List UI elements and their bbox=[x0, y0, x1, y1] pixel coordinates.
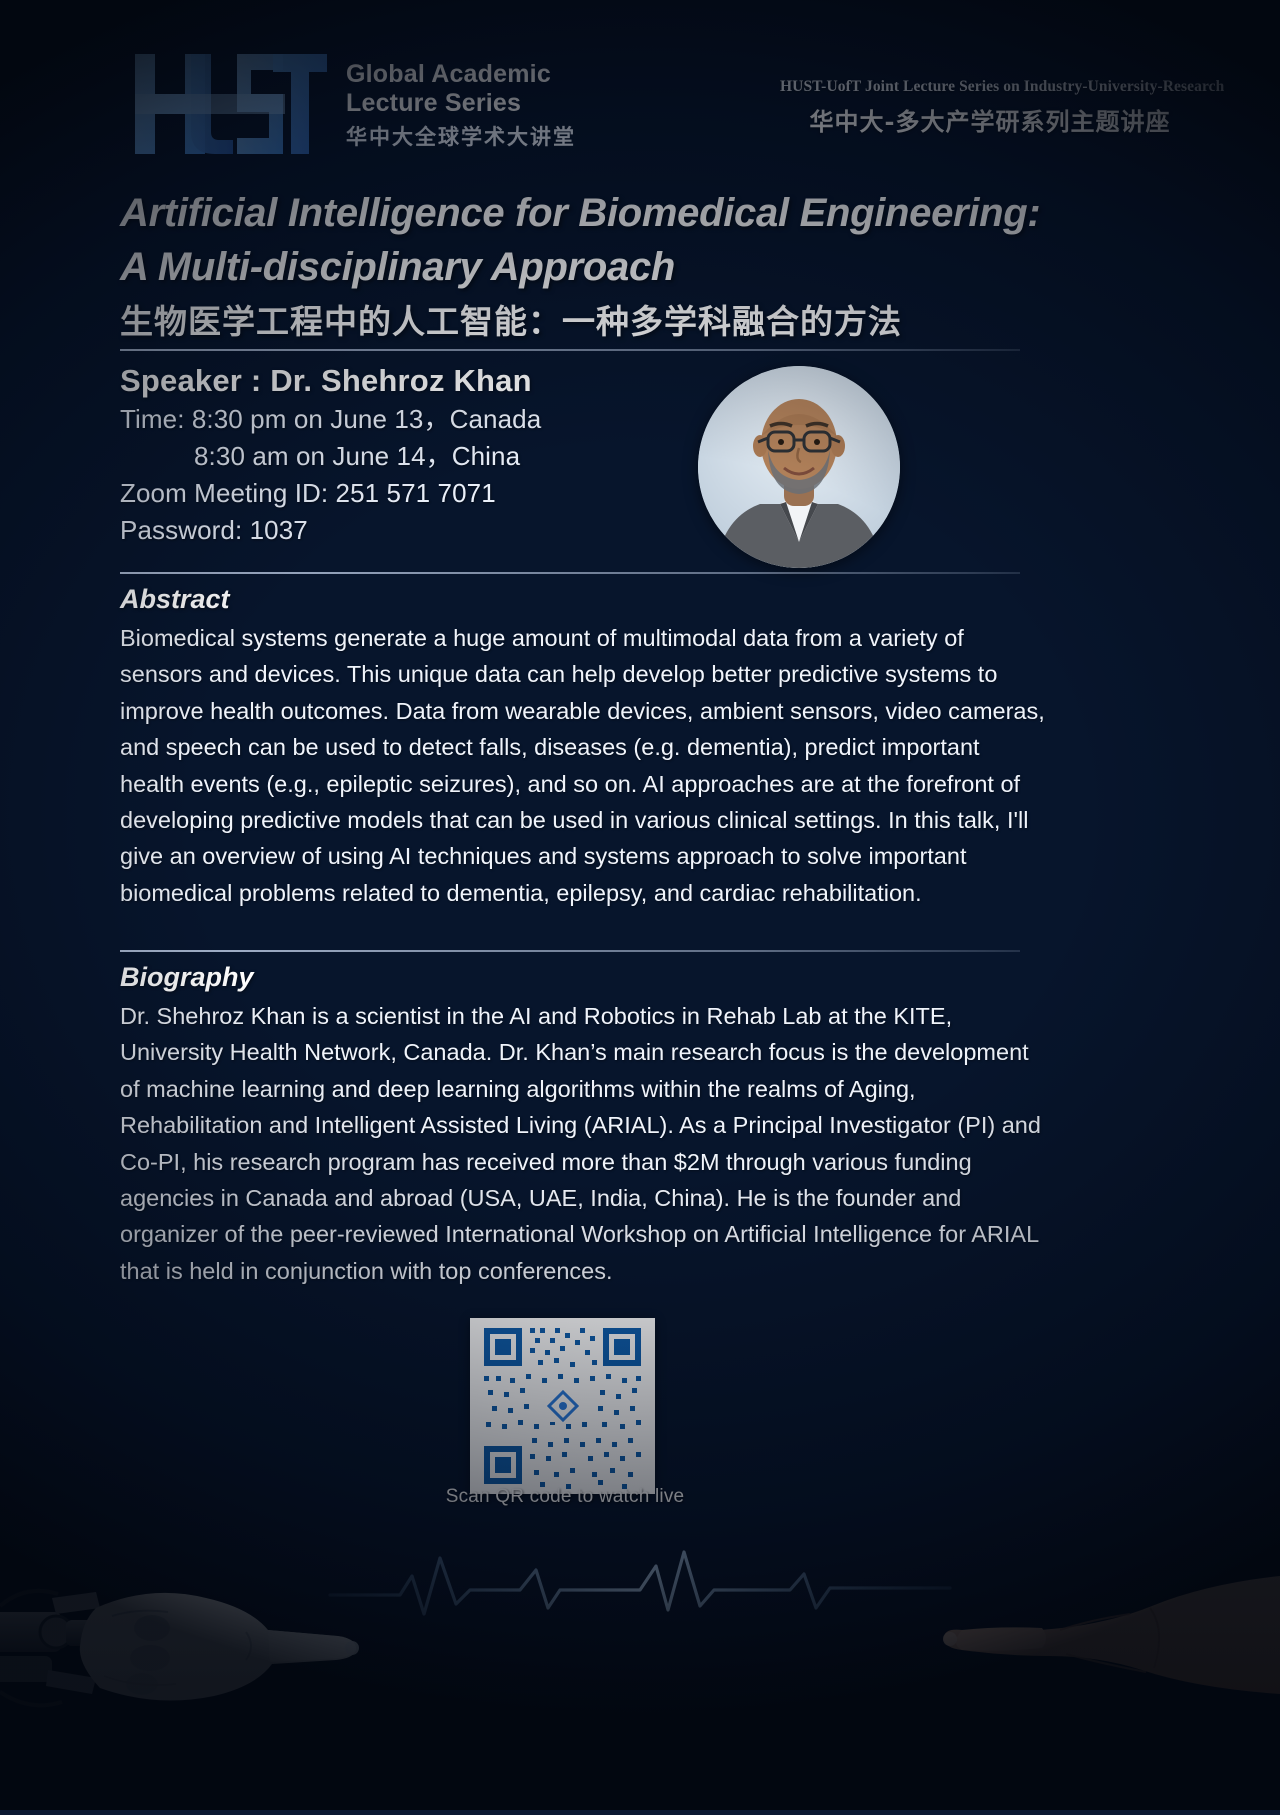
logo-chinese-text: 华中大全球学术大讲堂 bbox=[346, 121, 576, 151]
title-line-2: A Multi-disciplinary Approach bbox=[120, 240, 1060, 294]
series-banner: HUST-UofT Joint Lecture Series on Indust… bbox=[780, 78, 1200, 137]
biography-heading: Biography bbox=[120, 960, 1050, 994]
abstract-body: Biomedical systems generate a huge amoun… bbox=[120, 620, 1050, 911]
qr-code[interactable] bbox=[470, 1318, 655, 1494]
lecture-title-block: Artificial Intelligence for Biomedical E… bbox=[120, 186, 1060, 344]
qr-caption: Scan QR code to watch live bbox=[380, 1486, 750, 1508]
brand-logo-group: Global Academic Lecture Series 华中大全球学术大讲… bbox=[133, 48, 576, 158]
speaker-info-block: Speaker : Dr. Shehroz Khan Time: 8:30 pm… bbox=[120, 361, 740, 549]
zoom-meeting-id: Zoom Meeting ID: 251 571 7071 bbox=[120, 475, 740, 512]
zoom-password: Password: 1037 bbox=[120, 512, 740, 549]
time-line-china: 8:30 am on June 14，China bbox=[120, 438, 740, 475]
biography-body: Dr. Shehroz Khan is a scientist in the A… bbox=[120, 998, 1050, 1289]
poster-header: Global Academic Lecture Series 华中大全球学术大讲… bbox=[0, 0, 1280, 175]
logo-line-2: Lecture Series bbox=[346, 89, 576, 118]
hust-logo-icon bbox=[133, 48, 328, 158]
abstract-heading: Abstract bbox=[120, 582, 1050, 616]
abstract-section: Abstract Biomedical systems generate a h… bbox=[120, 582, 1050, 911]
logo-line-1: Global Academic bbox=[346, 60, 576, 89]
biography-section: Biography Dr. Shehroz Khan is a scientis… bbox=[120, 960, 1050, 1289]
series-title-en: HUST-UofT Joint Lecture Series on Indust… bbox=[780, 78, 1200, 96]
series-title-cn: 华中大-多大产学研系列主题讲座 bbox=[780, 102, 1200, 137]
time-line-canada: Time: 8:30 pm on June 13，Canada bbox=[120, 401, 740, 438]
divider-rule-biography bbox=[120, 950, 1020, 952]
divider-rule-abstract bbox=[120, 572, 1020, 574]
brand-logo-text: Global Academic Lecture Series 华中大全球学术大讲… bbox=[346, 56, 576, 151]
speaker-name: Speaker : Dr. Shehroz Khan bbox=[120, 361, 740, 401]
title-chinese: 生物医学工程中的人工智能：一种多学科融合的方法 bbox=[120, 300, 1060, 344]
speaker-portrait bbox=[698, 366, 900, 568]
title-line-1: Artificial Intelligence for Biomedical E… bbox=[120, 186, 1060, 240]
divider-rule-top bbox=[120, 349, 1020, 351]
